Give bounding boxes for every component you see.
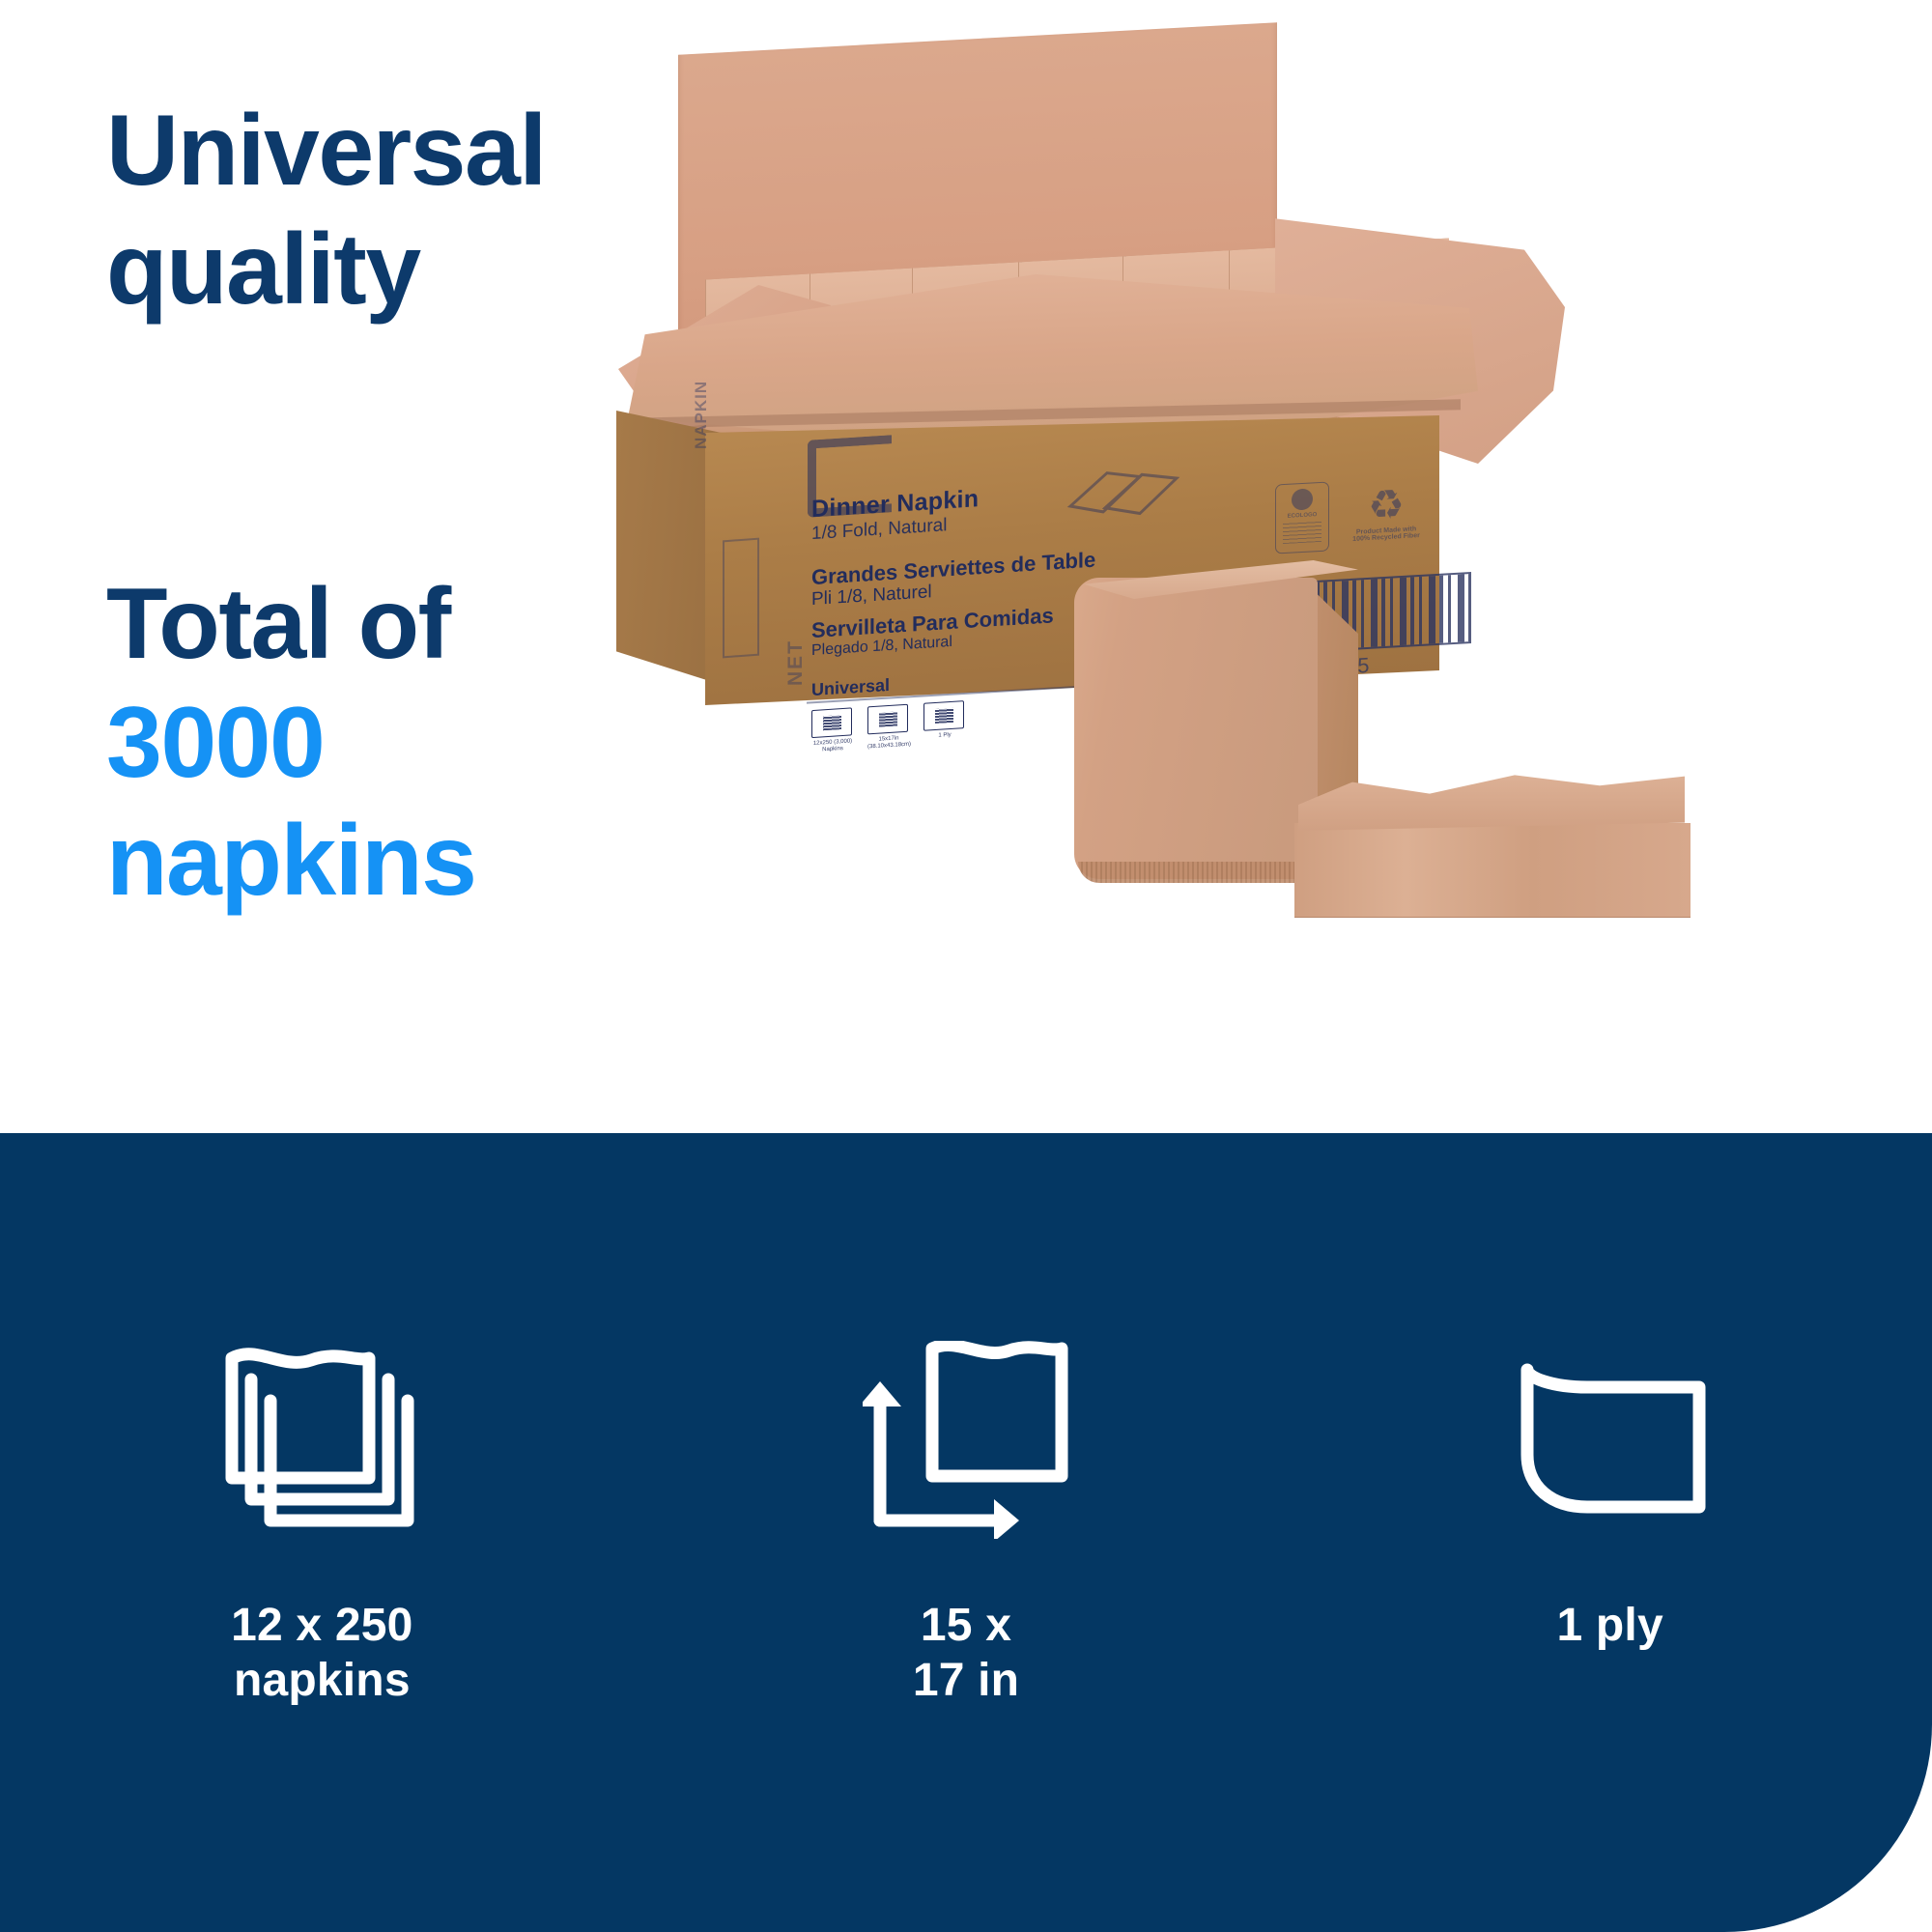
feature-label-dimensions: 15 x 17 in xyxy=(913,1599,1019,1708)
carton-mini-spec: 1 Ply xyxy=(923,700,966,748)
top-panel: Universal quality Total of 3000 napkins xyxy=(0,0,1932,1133)
feature-label-ply: 1 ply xyxy=(1556,1599,1662,1654)
carton-mini-spec: 15x17in (38.10x43.18cm) xyxy=(867,704,910,752)
recycle-triangle-glyph: ♻ xyxy=(1352,483,1420,527)
product-photo: NAPKIN NET Dinner Napkin 1/8 Fold, Natur… xyxy=(618,10,1913,1101)
napkin-stack-top-sheet xyxy=(1298,773,1685,831)
product-feature-graphic: Universal quality Total of 3000 napkins xyxy=(0,0,1932,1932)
carton-mini-spec: 12x250 (3,000) Napkins xyxy=(811,707,854,754)
recycle-icon: ♻ Product Made with 100% Recycled Fiber xyxy=(1352,483,1420,543)
carton-side-print-large: NET xyxy=(784,639,808,686)
feature-label-pack-count: 12 x 250 napkins xyxy=(231,1599,412,1708)
carton-side-print-box xyxy=(723,538,759,659)
feature-item-dimensions: 15 x 17 in xyxy=(644,1133,1289,1809)
napkin-stack-layer xyxy=(1294,904,1690,918)
ecologo-globe-glyph xyxy=(1292,488,1313,510)
napkin-dimensions-icon xyxy=(863,1317,1070,1539)
carton-mini-spec-icon xyxy=(923,700,964,731)
carton-mini-spec-caption: 12x250 (3,000) Napkins xyxy=(811,738,854,754)
carton-mini-spec-caption: 1 Ply xyxy=(923,731,966,741)
napkin-single-ply-icon xyxy=(1506,1317,1714,1539)
napkin-stack-flat xyxy=(1294,773,1690,927)
ecologo-fineprint xyxy=(1283,521,1321,544)
feature-item-pack-count: 12 x 250 napkins xyxy=(0,1133,644,1809)
carton-mini-spec-caption: 15x17in (38.10x43.18cm) xyxy=(867,735,910,752)
napkin-pack-base xyxy=(1078,862,1314,883)
napkin-pack-face xyxy=(1074,578,1318,879)
carton-mini-spec-icon xyxy=(867,704,908,735)
carton-side-print: NAPKIN xyxy=(692,266,711,449)
feature-band: 12 x 250 napkins 15 x 17 in xyxy=(0,1133,1932,1932)
napkin-stack-icon xyxy=(218,1317,426,1539)
feature-grid: 12 x 250 napkins 15 x 17 in xyxy=(0,1133,1932,1809)
ecologo-caption: ECOLOGO xyxy=(1288,512,1318,520)
feature-item-ply: 1 ply xyxy=(1288,1133,1932,1809)
carton-mini-spec-icon xyxy=(811,708,852,739)
ecologo-icon: ECOLOGO xyxy=(1275,481,1329,554)
